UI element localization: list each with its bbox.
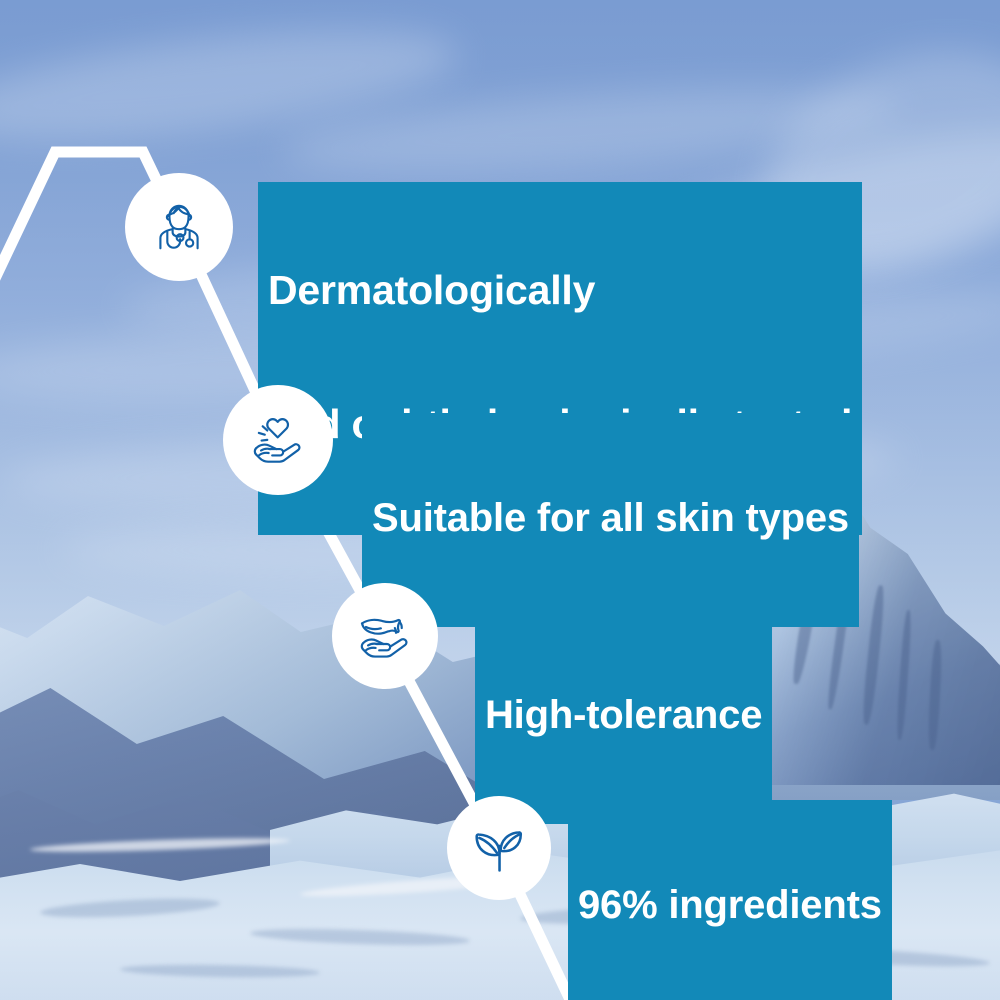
feature-icon-bubble <box>223 385 333 495</box>
feature-label: 96% ingredients of natural origin <box>568 800 892 1000</box>
feature-label-line: 96% ingredients <box>568 883 892 931</box>
two-leaves-plant-icon <box>465 814 533 882</box>
feature-label: Suitable for all skin types <box>362 413 859 627</box>
feature-icon-bubble <box>125 173 233 281</box>
feature-label-line: High-tolerance <box>475 693 772 741</box>
hand-holding-heart-icon <box>243 405 313 475</box>
hand-holding-feather-icon <box>350 601 420 671</box>
feature-icon-bubble <box>447 796 551 900</box>
feature-label: High-tolerance <box>475 610 772 824</box>
doctor-stethoscope-icon <box>145 193 213 261</box>
feature-label-line: Suitable for all skin types <box>362 496 859 544</box>
promo-graphic: Dermatologically and ophthalmologically … <box>0 0 1000 1000</box>
feature-label-line: Dermatologically <box>258 267 605 316</box>
feature-icon-bubble <box>332 583 438 689</box>
